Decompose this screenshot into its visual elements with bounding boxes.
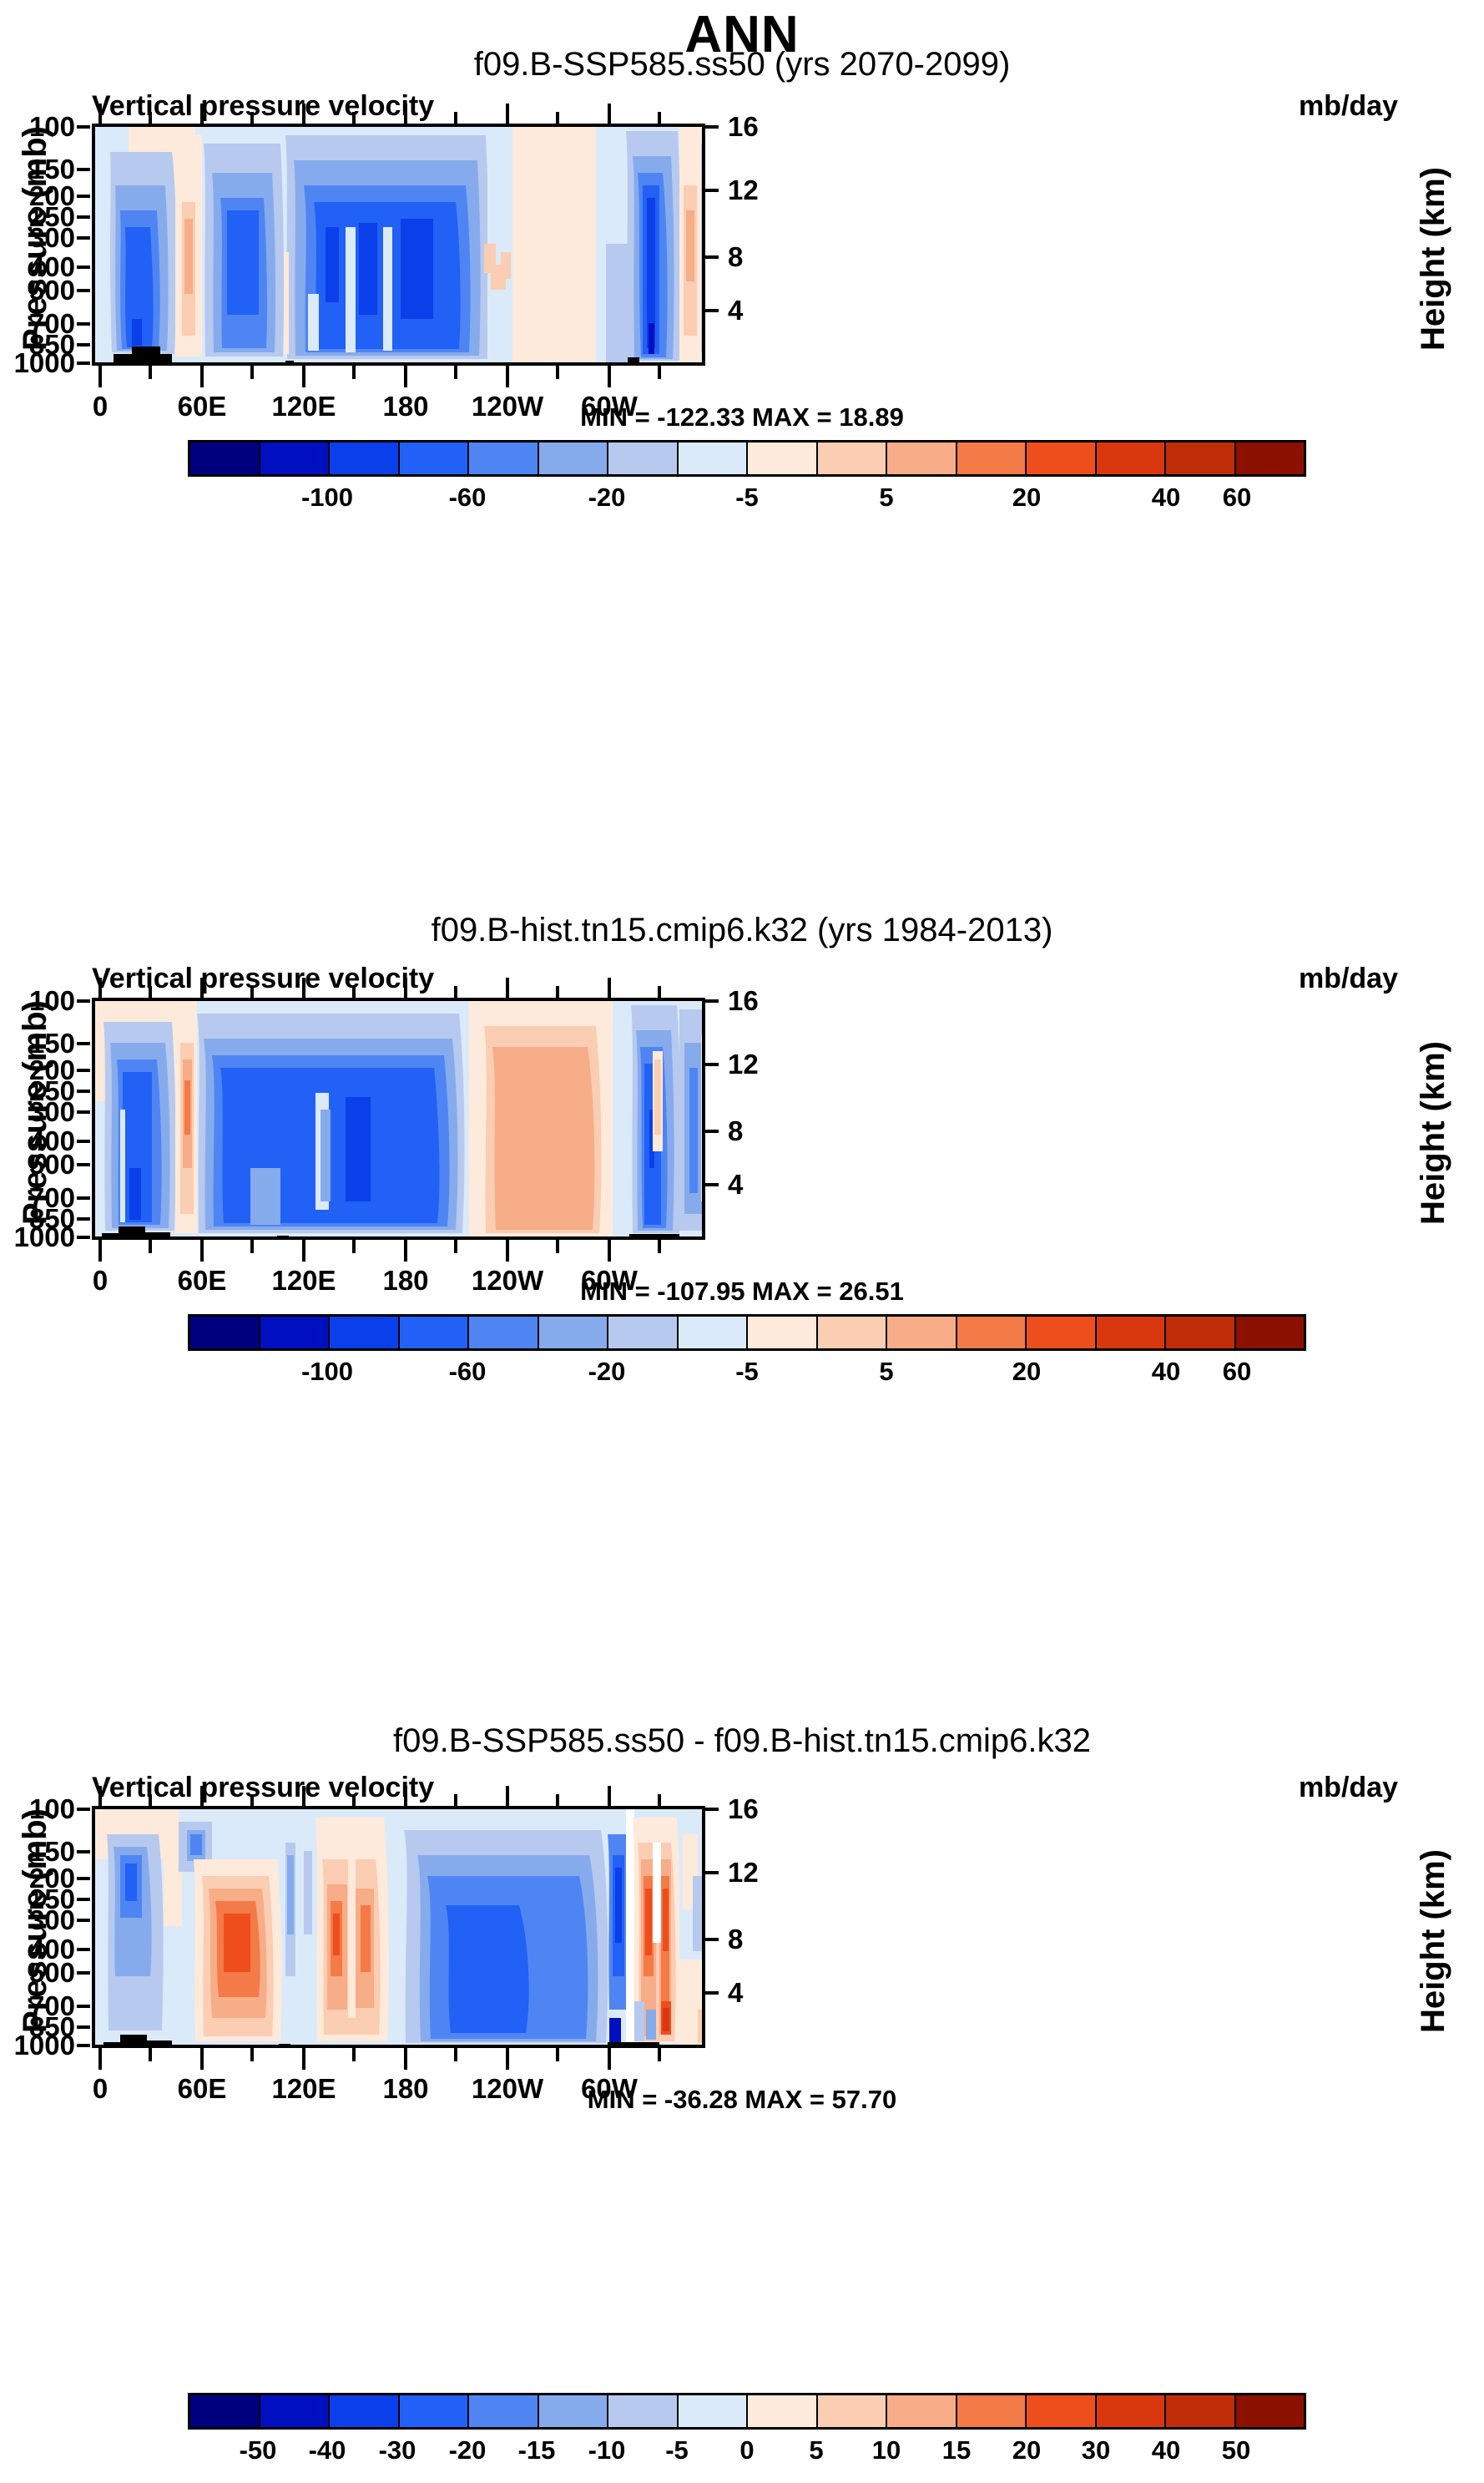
panel-1-yaxis-title: Pressure (mb) (17, 126, 54, 351)
ytick-km-16: 16 (728, 1793, 795, 1825)
panel-3-minmax: MIN = -36.28 MAX = 57.70 (0, 2085, 1484, 2115)
cbar2-label-6: 40 (1152, 1357, 1180, 1387)
cbar1-label-0: -100 (301, 483, 353, 513)
cbar3-label-9: 10 (872, 2435, 901, 2465)
cbar1-label-1: -60 (449, 483, 487, 513)
cbar2-label-7: 60 (1223, 1357, 1251, 1387)
panel-1-subtitle: f09.B-SSP585.ss50 (yrs 2070-2099) (0, 46, 1484, 83)
ytick-1000: 1000 (0, 2030, 75, 2061)
cbar3-label-13: 40 (1152, 2435, 1180, 2465)
cbar3-label-12: 30 (1082, 2435, 1110, 2465)
panel-3-yaxis-right-title: Height (km) (1415, 1849, 1452, 2033)
cbar3-label-2: -30 (379, 2435, 416, 2465)
panel-2-variable-label: Vertical pressure velocity (92, 963, 434, 995)
cbar3-label-6: -5 (665, 2435, 689, 2465)
cbar2-label-1: -60 (449, 1357, 487, 1387)
ytick-km-8: 8 (728, 1924, 795, 1955)
ytick-km-16: 16 (728, 985, 795, 1017)
cbar2-label-2: -20 (588, 1357, 626, 1387)
panel-2-minmax: MIN = -107.95 MAX = 26.51 (0, 1277, 1484, 1307)
cbar3-label-14: 50 (1222, 2435, 1250, 2465)
cbar1-label-3: -5 (735, 483, 759, 513)
cbar1-label-2: -20 (588, 483, 626, 513)
panel-3-variable-label: Vertical pressure velocity (92, 1772, 434, 1804)
panel-1-minmax: MIN = -122.33 MAX = 18.89 (0, 402, 1484, 432)
cbar2-label-4: 5 (879, 1357, 893, 1387)
panel-1-variable-label: Vertical pressure velocity (92, 90, 434, 123)
panel-2-colorbar-strip (188, 1314, 1306, 1351)
ytick-1000: 1000 (0, 347, 75, 379)
ytick-1000: 1000 (0, 1221, 75, 1253)
ytick-km-4: 4 (728, 1977, 795, 2009)
cbar1-label-6: 40 (1152, 483, 1180, 513)
panel-3-contour-field (95, 1809, 705, 2048)
cbar3-label-3: -20 (449, 2435, 487, 2465)
panel-1-plot (92, 124, 705, 366)
panel-3-colorbar-strip (188, 2393, 1306, 2430)
cbar1-label-5: 20 (1012, 483, 1041, 513)
ytick-km-4: 4 (728, 1169, 795, 1201)
panel-2-yaxis-right-title: Height (km) (1415, 1041, 1452, 1225)
panel-1-contour-field (95, 127, 705, 366)
panel-1-yaxis-right-title: Height (km) (1415, 167, 1452, 351)
panel-2-plot (92, 998, 705, 1240)
cbar2-label-3: -5 (735, 1357, 759, 1387)
cbar1-label-7: 60 (1223, 483, 1251, 513)
panel-3-units-label: mb/day (1185, 1772, 1398, 1804)
ytick-km-12: 12 (728, 1857, 795, 1889)
cbar3-label-5: -10 (588, 2435, 626, 2465)
cbar3-label-4: -15 (518, 2435, 556, 2465)
panel-3-subtitle: f09.B-SSP585.ss50 - f09.B-hist.tn15.cmip… (0, 1722, 1484, 1760)
panel-2-yaxis-title: Pressure (mb) (17, 1000, 54, 1225)
ytick-km-16: 16 (728, 111, 795, 143)
panel-1-units-label: mb/day (1185, 90, 1398, 123)
panel-3-plot (92, 1806, 705, 2048)
cbar1-label-4: 5 (879, 483, 893, 513)
ytick-km-4: 4 (728, 295, 795, 326)
cbar3-label-1: -40 (309, 2435, 346, 2465)
cbar2-label-5: 20 (1012, 1357, 1041, 1387)
ytick-km-8: 8 (728, 1115, 795, 1147)
cbar3-label-11: 20 (1012, 2435, 1041, 2465)
figure-page: ANN f09.B-SSP585.ss50 (yrs 2070-2099) Ve… (0, 0, 1484, 2483)
cbar3-label-0: -50 (240, 2435, 277, 2465)
ytick-km-12: 12 (728, 1049, 795, 1080)
panel-2-subtitle: f09.B-hist.tn15.cmip6.k32 (yrs 1984-2013… (0, 912, 1484, 949)
panel-2-units-label: mb/day (1185, 963, 1398, 995)
panel-2-contour-field (95, 1001, 705, 1240)
ytick-km-12: 12 (728, 174, 795, 206)
cbar2-label-0: -100 (301, 1357, 353, 1387)
ytick-km-8: 8 (728, 241, 795, 273)
cbar3-label-7: 0 (739, 2435, 754, 2465)
cbar3-label-10: 15 (942, 2435, 971, 2465)
panel-1-colorbar-strip (188, 440, 1306, 477)
panel-3-yaxis-title: Pressure (mb) (17, 1808, 54, 2033)
cbar3-label-8: 5 (809, 2435, 823, 2465)
